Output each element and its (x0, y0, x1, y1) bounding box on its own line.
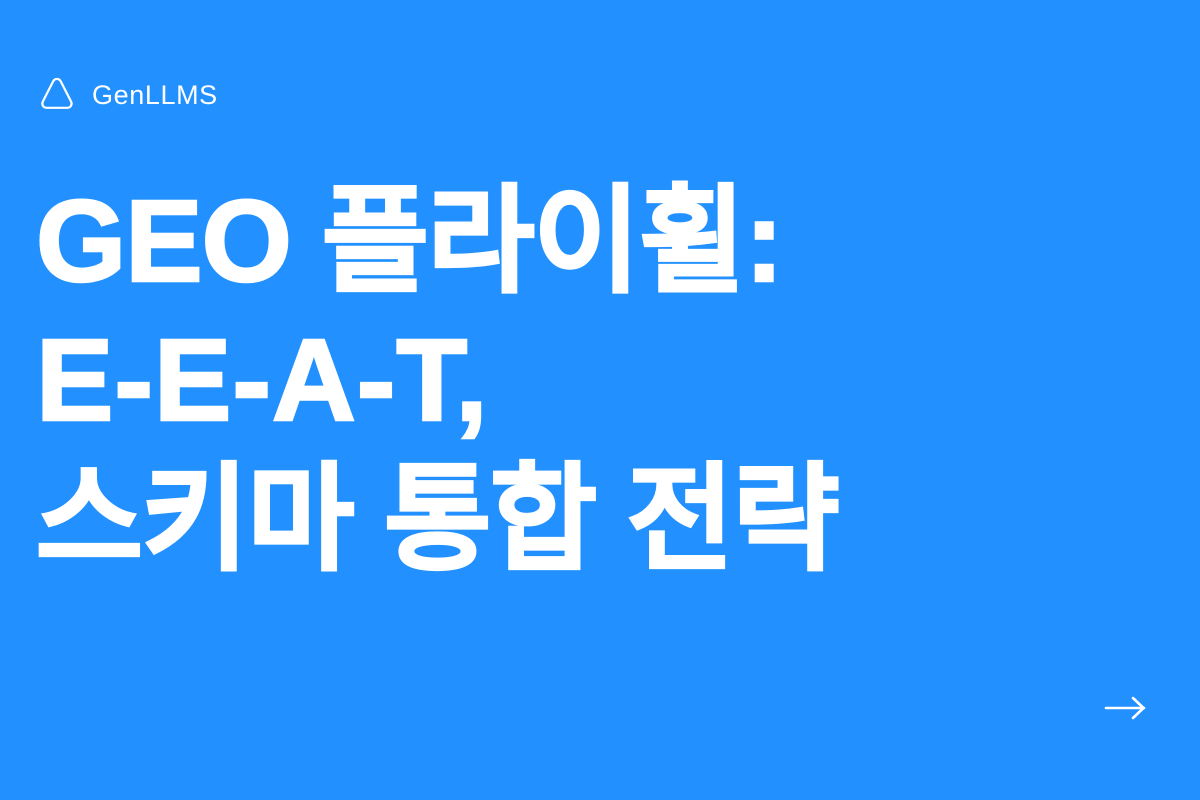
headline-line-1: GEO 플라이휠: (36, 172, 1076, 311)
page-title: GEO 플라이휠: E-E-A-T, 스키마 통합 전략 (36, 172, 1076, 590)
rounded-triangle-logo-icon (36, 74, 78, 116)
headline-line-3: 스키마 통합 전략 (36, 450, 1076, 589)
headline-line-2: E-E-A-T, (36, 311, 1076, 450)
brand-lockup[interactable]: GenLLMS (36, 70, 218, 120)
slide-canvas: GenLLMS GEO 플라이휠: E-E-A-T, 스키마 통합 전략 (0, 0, 1200, 800)
brand-name: GenLLMS (92, 82, 218, 109)
arrow-right-icon (1104, 695, 1148, 721)
next-slide-button[interactable] (1100, 688, 1152, 728)
